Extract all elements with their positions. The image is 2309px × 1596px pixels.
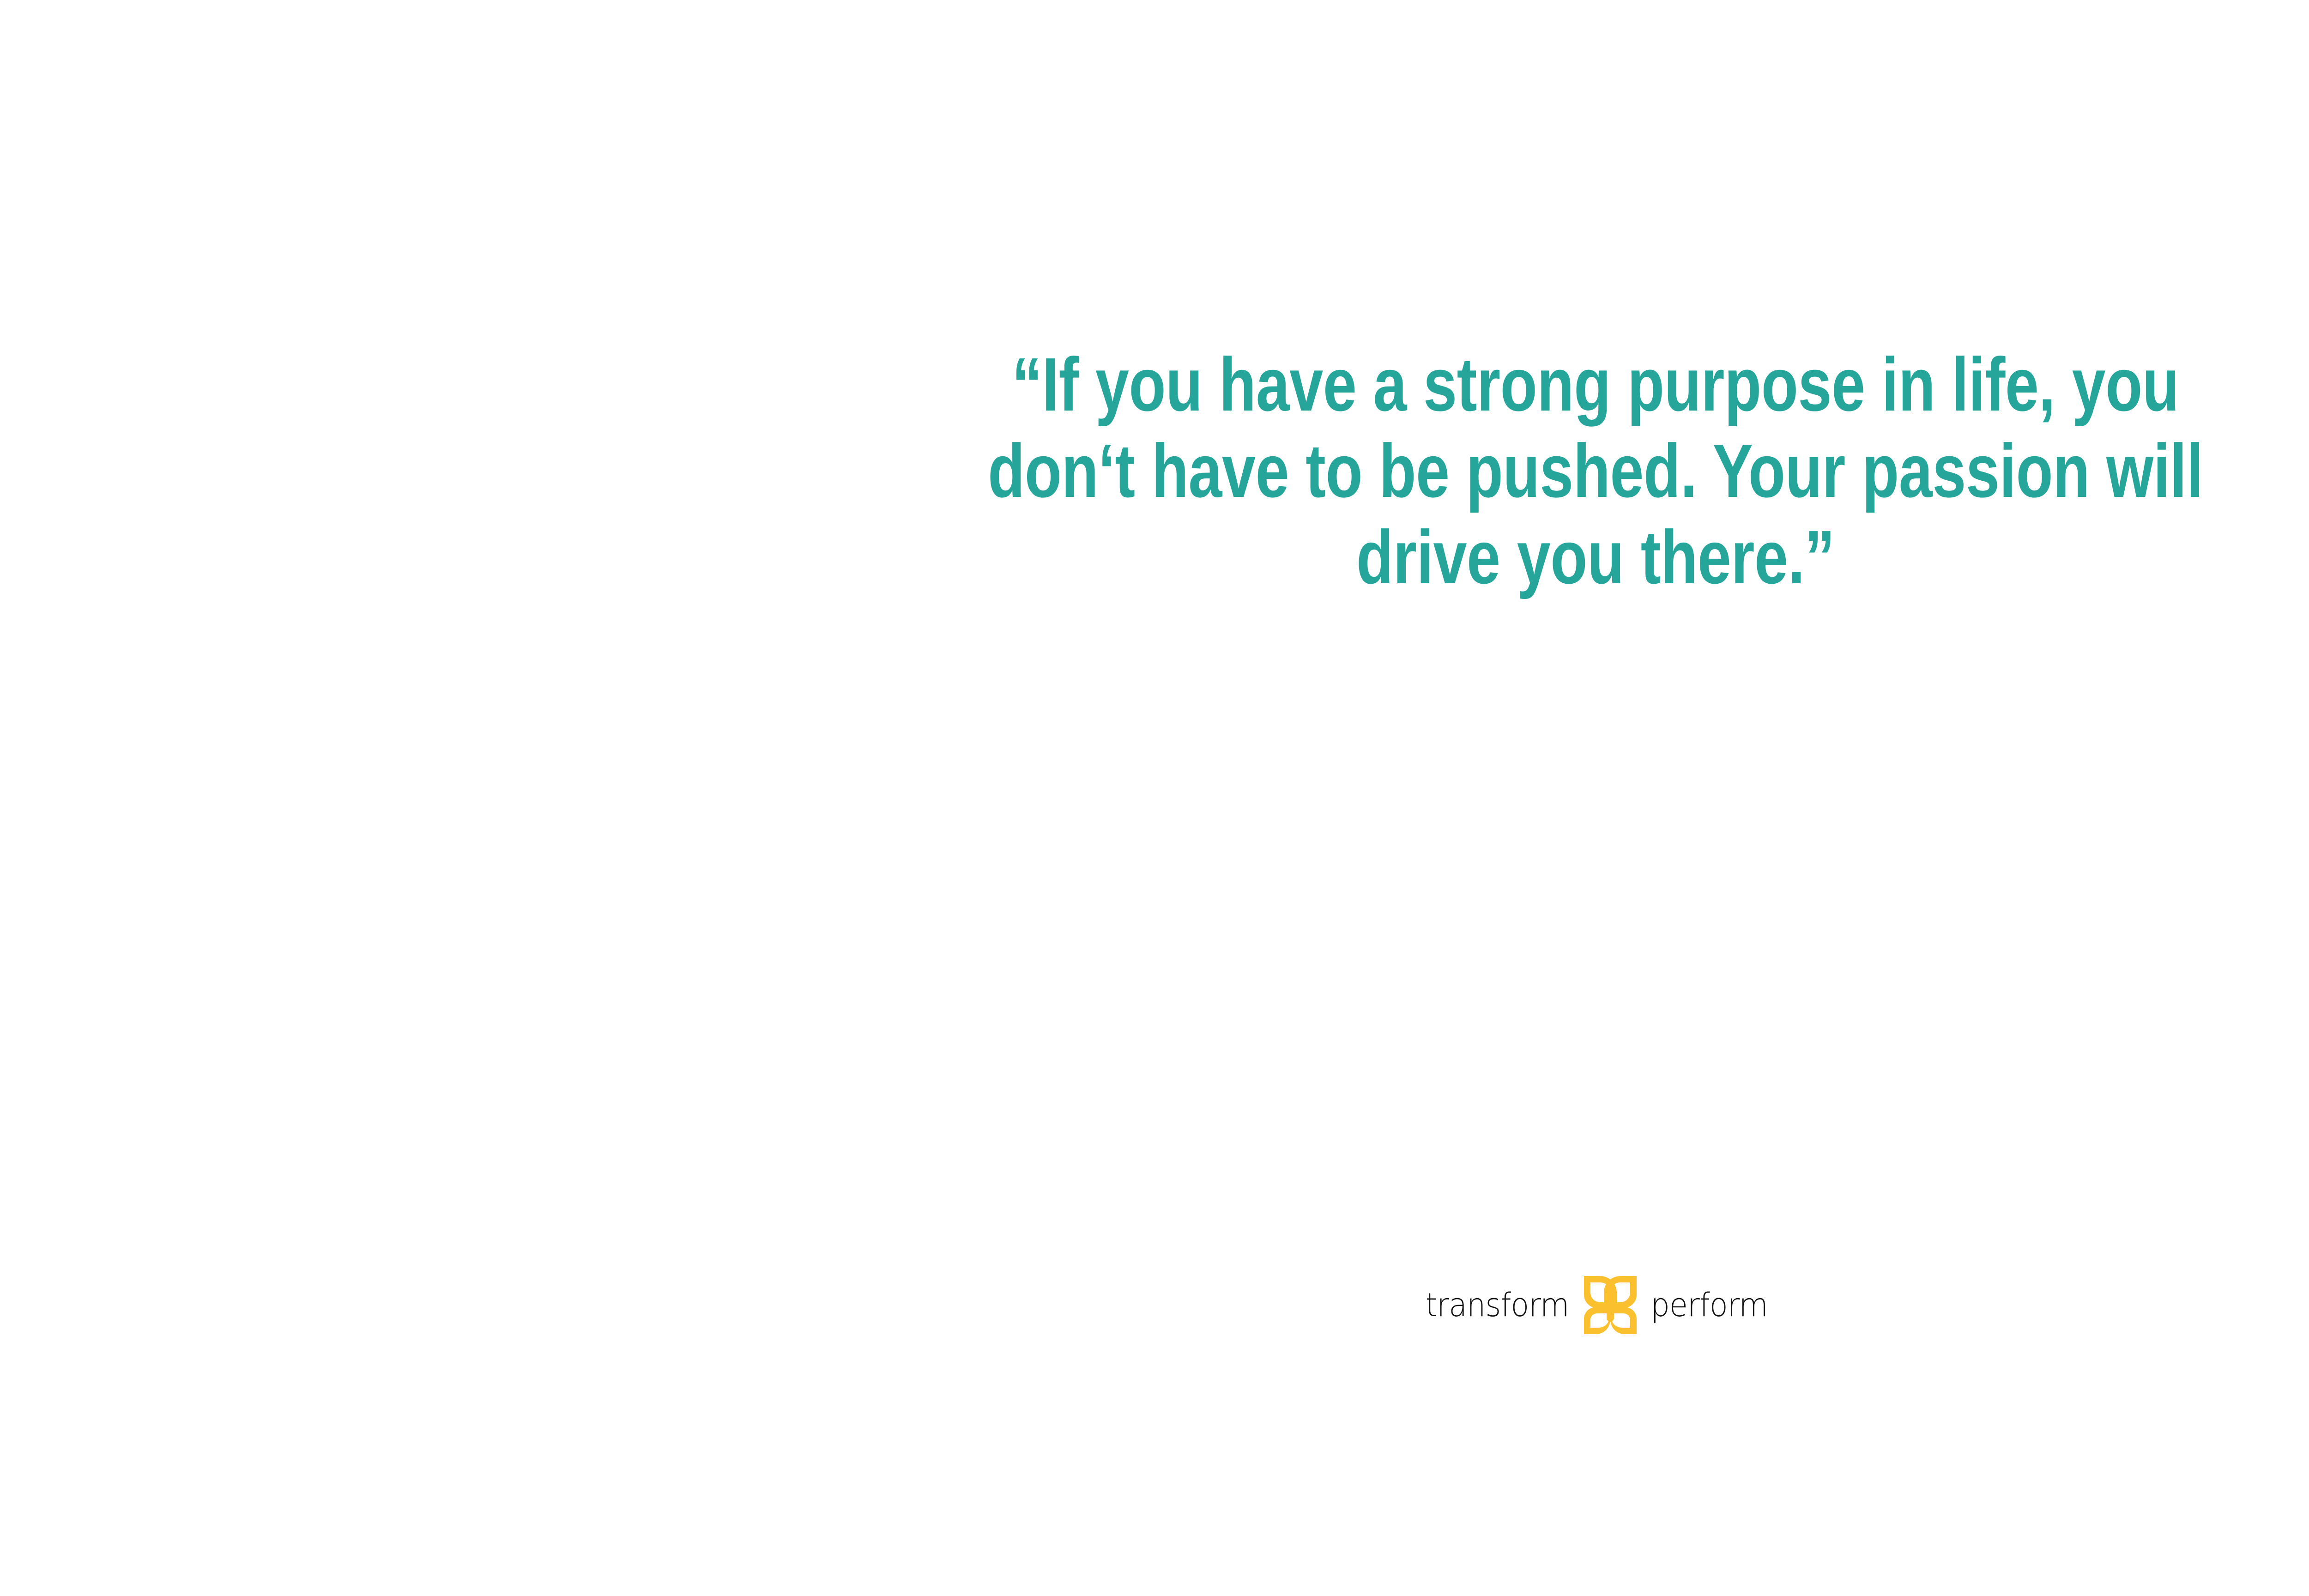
logo-word-transform: transform [1425, 1289, 1569, 1321]
quote-text-block: “If you have a strong purpose in life, y… [614, 342, 2309, 601]
quote-line-1: “If you have a strong purpose in life, y… [810, 342, 2309, 428]
logo-word-perform: perform [1650, 1289, 1767, 1321]
brand-logo-lockup: transform perform [0, 1275, 2309, 1336]
attribution-row: Roy T. Bennett [614, 979, 2309, 1038]
quote-line-2: don‘t have to be pushed. Your passion wi… [810, 428, 2309, 514]
butterfly-icon [1583, 1275, 1638, 1336]
quote-card-canvas: “If you have a strong purpose in life, y… [0, 0, 2309, 1596]
quote-line-3: drive you there.” [810, 514, 2309, 601]
